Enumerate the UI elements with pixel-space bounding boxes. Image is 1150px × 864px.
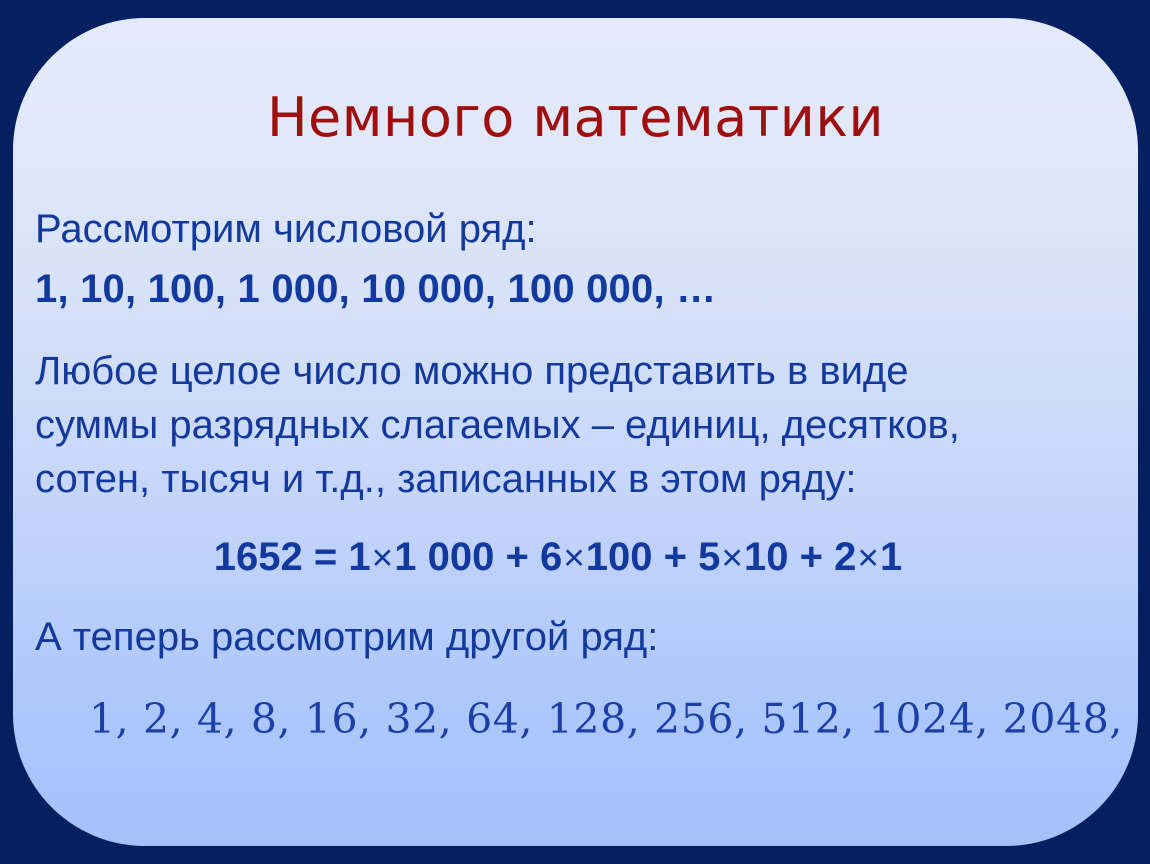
multiplication-sign-icon: × [562,537,586,578]
formula-term4-place: 1 [880,535,902,579]
formula-term2-place: 100 [586,535,653,579]
slide-panel: Немного математики Рассмотрим числовой р… [13,18,1138,846]
formula-term1-place: 1 000 [394,535,494,579]
place-value-formula: 1652 = 1×1 000 + 6×100 + 5×10 + 2×1 [13,535,1103,580]
formula-plus-2: + [664,535,687,579]
paragraph-line-3: сотен, тысяч и т.д., записанных в этом р… [35,457,1125,502]
series2-values-text: 1, 2, 4, 8, 16, 32, 64, 128, 256, 512, 1… [89,695,1129,743]
multiplication-sign-icon: × [371,537,395,578]
formula-term2-coefficient: 6 [540,535,562,579]
formula-term1-coefficient: 1 [348,535,370,579]
formula-plus-3: + [800,535,823,579]
formula-term4-coefficient: 2 [834,535,856,579]
formula-plus-1: + [505,535,528,579]
page-title: Немного математики [13,86,1138,149]
slide-canvas: Немного математики Рассмотрим числовой р… [0,0,1150,864]
multiplication-sign-icon: × [856,537,880,578]
formula-term3-coefficient: 5 [698,535,720,579]
paragraph-line-1: Любое целое число можно представить в ви… [35,349,1125,394]
series1-values-text: 1, 10, 100, 1 000, 10 000, 100 000, … [35,267,1125,312]
series2-intro-text: А теперь рассмотрим другой ряд: [35,615,1125,660]
multiplication-sign-icon: × [720,537,744,578]
slide-content: Немного математики Рассмотрим числовой р… [13,18,1138,846]
formula-term3-place: 10 [744,535,789,579]
formula-equals: = [314,535,337,579]
formula-result: 1652 [214,535,303,579]
series1-intro-text: Рассмотрим числовой ряд: [35,207,1125,252]
paragraph-line-2: суммы разрядных слагаемых – единиц, деся… [35,403,1125,448]
